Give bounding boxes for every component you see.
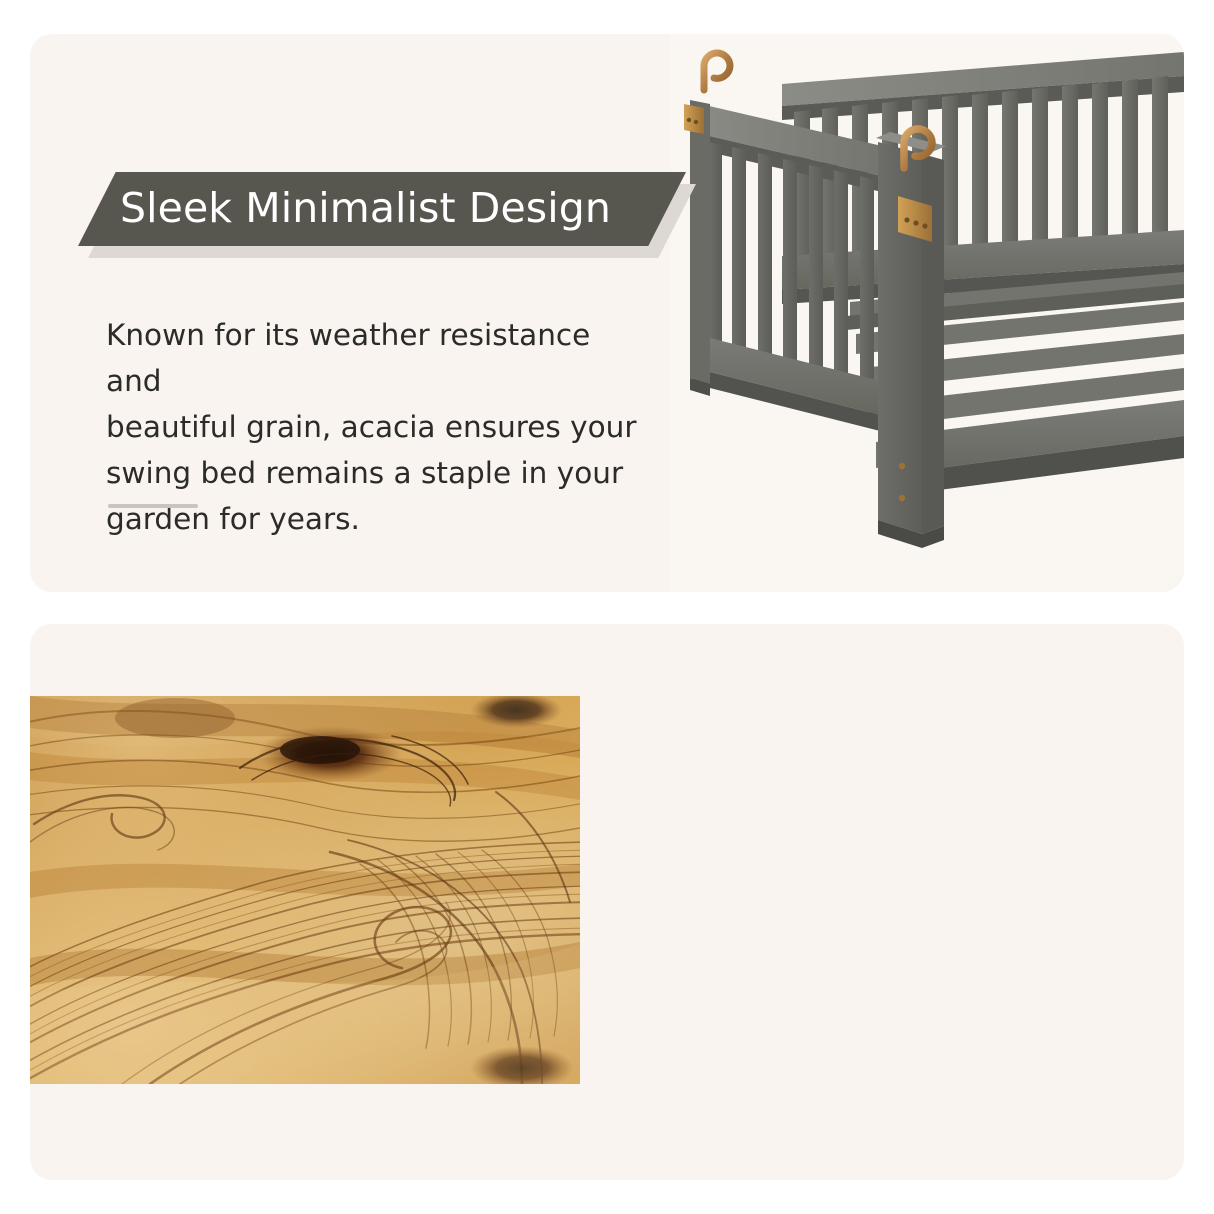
heading-banner-fill: Sleek Minimalist Design [78, 172, 686, 246]
section-heading: Sleek Minimalist Design [120, 185, 611, 233]
heading-banner-sleek-minimalist-design: Sleek Minimalist Design [78, 172, 686, 246]
feature-card-sleek-minimalist-design: Sleek Minimalist Design Known for its we… [30, 34, 1184, 592]
section-divider-rule [108, 504, 198, 508]
acacia-wood-grain-closeup-photo [30, 696, 580, 1084]
gray-acacia-porch-swing-bed-photo [670, 34, 1184, 592]
product-feature-infographic: Sleek Minimalist Design Known for its we… [0, 0, 1214, 1214]
feature-card-premium-acacia-wood-construction: Premium Acacia Wood Construction Crafted… [30, 624, 1184, 1180]
